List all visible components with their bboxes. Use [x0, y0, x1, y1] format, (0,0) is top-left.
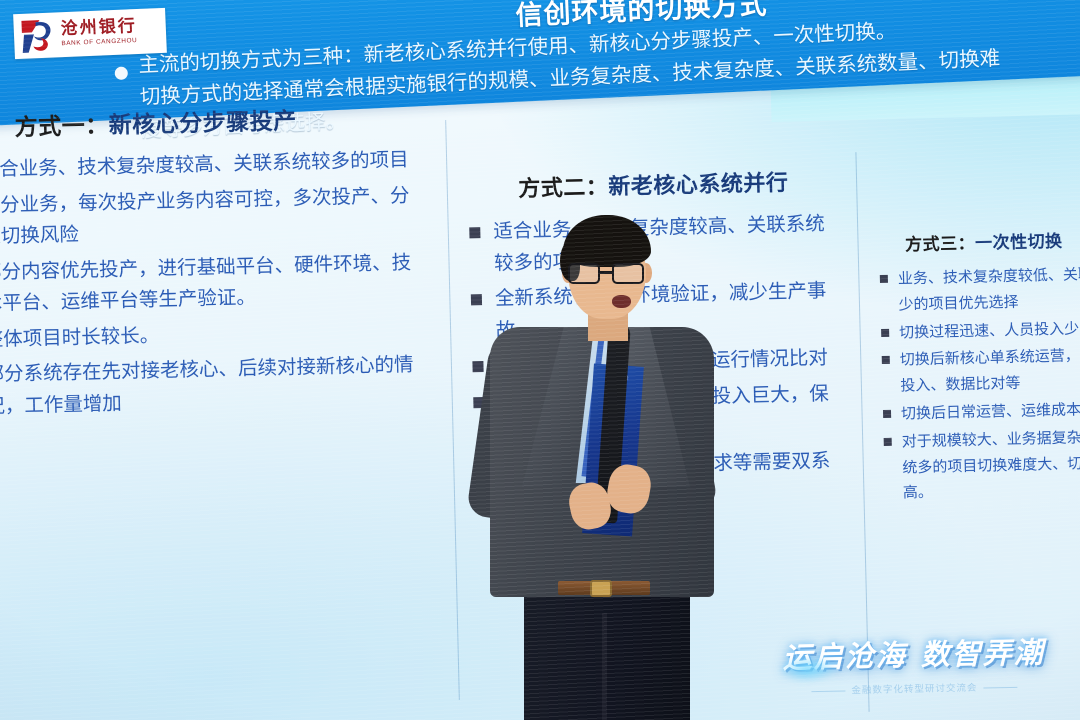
slide-column-three: 方式三：一次性切换 业务、技术复杂度较低、关联系统较少的项目优先选择 切换过程迅… — [877, 225, 1080, 509]
speaker-mouth — [612, 295, 631, 308]
speaker-hair — [563, 215, 651, 267]
presentation-photo: 信创环境的切换方式 主流的切换方式为三种：新老核心系统并行使用、新核心分步骤投产… — [0, 0, 1080, 720]
column-three-heading: 方式三：一次性切换 — [905, 225, 1080, 255]
list-item: 切换过程迅速、人员投入少 — [879, 315, 1080, 347]
list-item: 切换后新核心单系统运营，无需二次投入、数据比对等 — [880, 342, 1080, 400]
glasses-lens-right — [612, 263, 644, 284]
glasses-bridge — [600, 271, 612, 274]
column-one-heading-label: 方式一： — [14, 112, 109, 140]
event-subtitle-text: 金融数字化转型研讨交流会 — [851, 683, 977, 697]
event-slogan-block: 运启沧海数智弄潮 金融数字化转型研讨交流会 — [761, 629, 1066, 709]
speaker-trousers — [524, 589, 690, 720]
event-slogan-right: 数智弄潮 — [920, 635, 1045, 672]
column-three-heading-label: 方式三： — [905, 234, 975, 255]
column-one-heading-value: 新核心分步骤投产 — [108, 107, 297, 137]
intro-bullet-dot-icon — [114, 66, 128, 80]
list-item: 部分内容优先投产，进行基础平台、硬件环境、技术平台、运维平台等生产验证。 — [0, 247, 427, 321]
bank-name-en: BANK OF CANGZHOU — [61, 38, 137, 48]
bank-emblem-icon — [19, 17, 56, 54]
column-three-bullet-list: 业务、技术复杂度较低、关联系统较少的项目优先选择 切换过程迅速、人员投入少 切换… — [878, 261, 1080, 507]
speaker-figure: 新华财经 — [470, 215, 740, 720]
glasses-icon — [566, 263, 648, 285]
list-item: 切换后日常运营、运维成本低 — [881, 396, 1080, 428]
list-item: 对于规模较大、业务据复杂、关联系统多的项目切换难度大、切换风险高。 — [881, 424, 1080, 507]
column-two-heading: 方式二：新老核心系统并行 — [518, 164, 837, 203]
subtitle-rule-left — [811, 690, 845, 692]
slide-column-one: 方式一：新核心分步骤投产 适合业务、技术复杂度较高、关联系统较多的项目 拆分业务… — [0, 99, 430, 429]
slogan-glow — [778, 656, 839, 683]
list-item: 部分系统存在先对接老核心、后续对接新核心的情况，工作量增加 — [0, 350, 430, 424]
column-two-heading-value: 新老核心系统并行 — [608, 170, 789, 199]
speaker-belt-buckle — [590, 580, 612, 597]
column-three-heading-value: 一次性切换 — [975, 232, 1063, 253]
list-item: 业务、技术复杂度较低、关联系统较少的项目优先选择 — [878, 261, 1080, 319]
column-one-bullet-list: 适合业务、技术复杂度较高、关联系统较多的项目 拆分业务，每次投产业务内容可控，多… — [0, 144, 430, 424]
list-item: 拆分业务，每次投产业务内容可控，多次投产、分散切换风险 — [0, 180, 426, 254]
subtitle-rule-right — [983, 687, 1017, 689]
bank-logo: 沧州银行 BANK OF CANGZHOU — [13, 8, 167, 59]
bank-name-cn: 沧州银行 — [60, 18, 137, 38]
column-two-heading-label: 方式二： — [518, 174, 609, 201]
glasses-lens-left — [568, 263, 600, 284]
bank-logo-text: 沧州银行 BANK OF CANGZHOU — [60, 18, 137, 48]
